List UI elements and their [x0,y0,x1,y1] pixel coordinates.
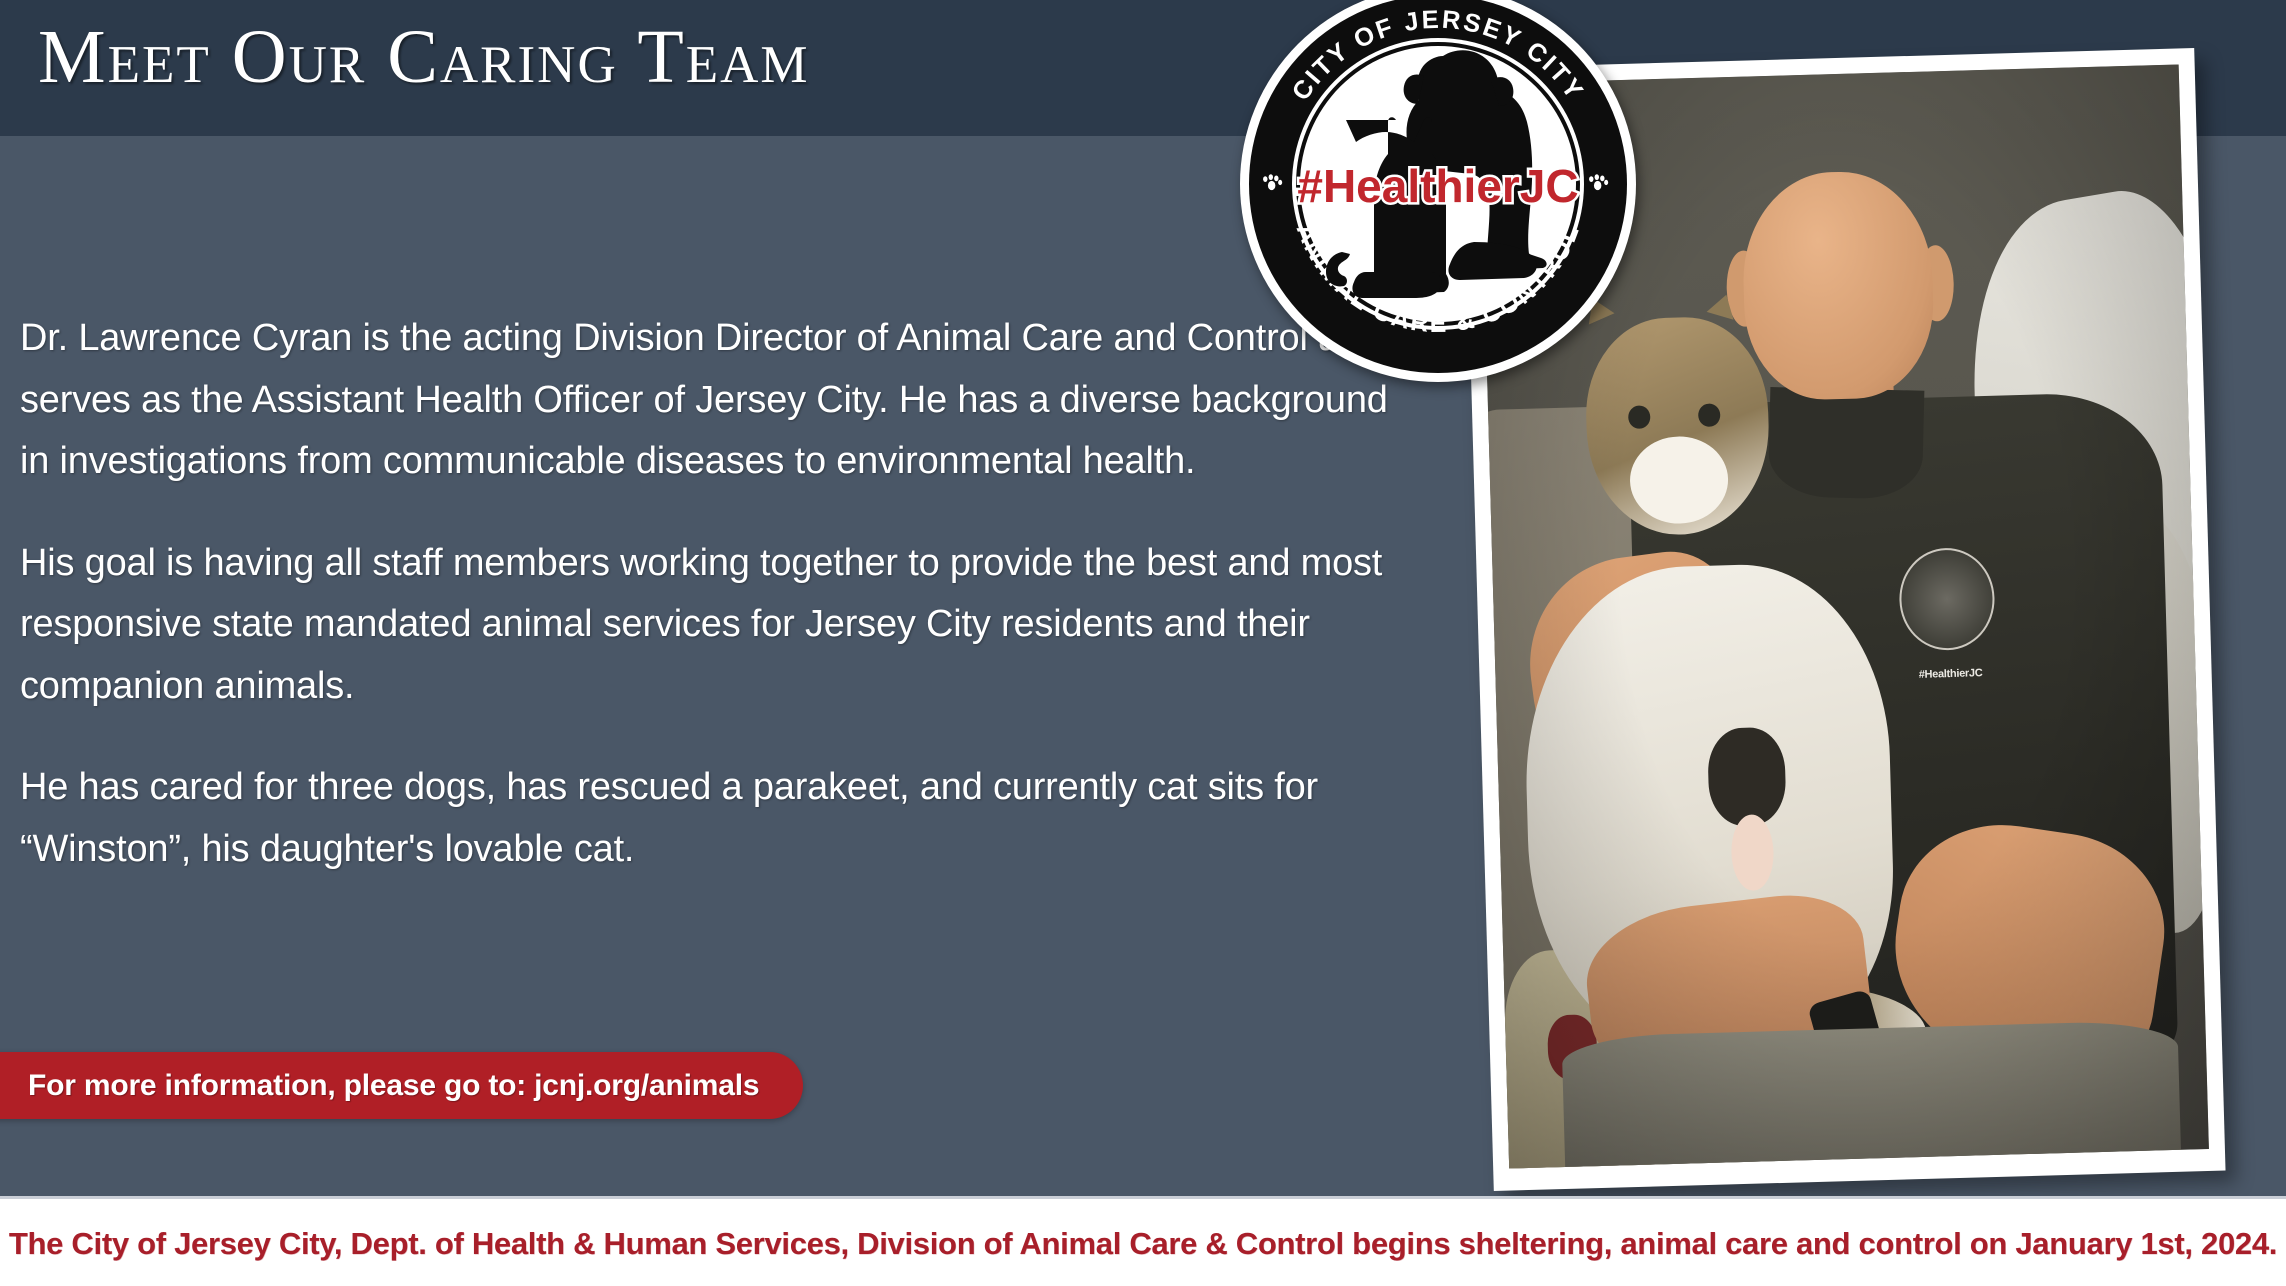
footer-announcement-text: The City of Jersey City, Dept. of Health… [9,1226,2277,1262]
footer-bar: The City of Jersey City, Dept. of Health… [0,1196,2286,1286]
bio-paragraph-3: He has cared for three dogs, has rescued… [20,757,1420,880]
poster-root: Meet Our Caring Team Dr. Lawrence Cyran … [0,0,2286,1286]
more-information-button[interactable]: For more information, please go to: jcnj… [0,1052,803,1119]
bio-text-block: Dr. Lawrence Cyran is the acting Divisio… [20,308,1420,880]
animal-care-control-logo: CITY OF JERSEY CITY ANIMAL CARE & CONTRO… [1238,0,1638,384]
bio-paragraph-1: Dr. Lawrence Cyran is the acting Divisio… [20,308,1420,493]
bio-paragraph-2: His goal is having all staff members wor… [20,533,1420,718]
more-information-label: For more information, please go to: jcnj… [28,1052,759,1119]
page-title: Meet Our Caring Team [38,14,810,101]
logo-svg: CITY OF JERSEY CITY ANIMAL CARE & CONTRO… [1238,0,1638,384]
logo-hashtag-text: #HealthierJC [1297,160,1578,212]
